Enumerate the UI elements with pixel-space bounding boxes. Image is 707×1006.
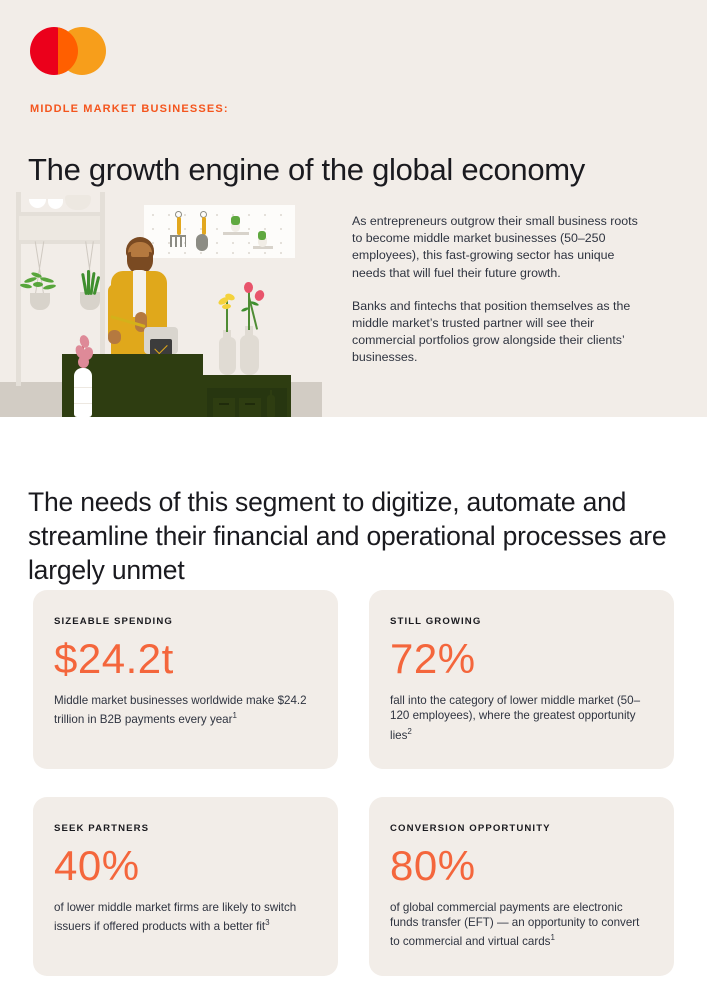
stat-description-text: Middle market businesses worldwide make … — [54, 694, 307, 726]
garden-fork-tine — [170, 237, 172, 247]
stat-label: SEEK PARTNERS — [54, 823, 316, 834]
hero-eyebrow: MIDDLE MARKET BUSINESSES: — [30, 103, 229, 115]
section-heading: The needs of this segment to digitize, a… — [28, 485, 668, 587]
peg-plant-1 — [231, 216, 240, 225]
stat-footnote: 1 — [550, 933, 554, 942]
shopkeeper-shirt-front — [133, 271, 146, 317]
stat-card-seek-partners: SEEK PARTNERS 40% of lower middle market… — [33, 797, 338, 976]
shopkeeper-hand-left — [108, 330, 121, 344]
pink-flower — [244, 282, 253, 293]
stat-value: $24.2t — [54, 631, 316, 687]
garden-fork-tine — [175, 237, 177, 247]
crate-slot-1 — [219, 403, 229, 405]
shelf-panel-upper — [19, 216, 100, 240]
stat-description-text: fall into the category of lower middle m… — [390, 694, 640, 741]
hero-body-copy: As entrepreneurs outgrow their small bus… — [352, 213, 642, 367]
pegboard — [144, 205, 295, 258]
stat-label: STILL GROWING — [390, 616, 652, 627]
stat-description-text: of lower middle market firms are likely … — [54, 901, 296, 933]
trowel-blade — [196, 234, 208, 251]
vase-2 — [240, 335, 259, 375]
garden-fork-tine — [180, 237, 182, 247]
pink-bloom — [78, 356, 89, 368]
tall-white-vase — [74, 368, 92, 417]
stat-value: 72% — [390, 631, 652, 687]
stat-footnote: 1 — [233, 711, 237, 720]
stat-description: fall into the category of lower middle m… — [390, 693, 652, 743]
stat-description: of lower middle market firms are likely … — [54, 900, 316, 934]
crate-1 — [213, 398, 235, 417]
plant-leaf — [33, 282, 43, 287]
vase-1 — [219, 337, 236, 375]
stat-value: 80% — [390, 838, 652, 894]
yellow-flower — [222, 304, 231, 310]
hero-section: MIDDLE MARKET BUSINESSES: The growth eng… — [0, 0, 707, 417]
crate-slot-2 — [245, 403, 255, 405]
stat-footnote: 2 — [407, 727, 411, 736]
shelf-bowl-1 — [29, 199, 46, 208]
mastercard-overlap — [58, 27, 78, 75]
page-title: The growth engine of the global economy — [28, 152, 585, 188]
stat-description: Middle market businesses worldwide make … — [54, 693, 316, 727]
garden-fork-handle — [177, 217, 181, 235]
bottle — [267, 395, 275, 417]
plant-leaf — [20, 283, 33, 289]
stat-description-text: of global commercial payments are electr… — [390, 901, 639, 948]
stat-card-sizeable-spending: SIZEABLE SPENDING $24.2t Middle market b… — [33, 590, 338, 769]
plant-shop-illustration — [0, 192, 322, 417]
shelf-pot-3 — [65, 195, 91, 210]
hero-paragraph-2: Banks and fintechs that position themsel… — [352, 298, 642, 367]
stat-description: of global commercial payments are electr… — [390, 900, 652, 950]
hanging-pot-1 — [30, 293, 50, 310]
stats-card-grid: SIZEABLE SPENDING $24.2t Middle market b… — [33, 590, 674, 976]
hero-paragraph-1: As entrepreneurs outgrow their small bus… — [352, 213, 642, 282]
stat-value: 40% — [54, 838, 316, 894]
shopkeeper-face-upper — [131, 245, 149, 257]
stat-footnote: 3 — [265, 918, 269, 927]
peg-plant-2 — [258, 231, 266, 240]
stat-label: CONVERSION OPPORTUNITY — [390, 823, 652, 834]
crate-2 — [239, 398, 261, 417]
garden-fork-tine — [185, 237, 187, 247]
stat-label: SIZEABLE SPENDING — [54, 616, 316, 627]
shelf-bar-top — [16, 212, 104, 216]
trowel-handle — [202, 217, 206, 235]
peg-shelf-1 — [223, 232, 249, 235]
shelf-bowl-2 — [48, 199, 63, 209]
plant-leaf — [43, 284, 57, 291]
vase-line-1 — [74, 387, 92, 388]
stat-card-still-growing: STILL GROWING 72% fall into the category… — [369, 590, 674, 769]
mastercard-logo — [30, 27, 106, 75]
vase-line-2 — [74, 403, 92, 404]
shelf-bar-mid — [16, 240, 104, 244]
pink-flower — [253, 289, 266, 303]
stat-card-conversion-opportunity: CONVERSION OPPORTUNITY 80% of global com… — [369, 797, 674, 976]
